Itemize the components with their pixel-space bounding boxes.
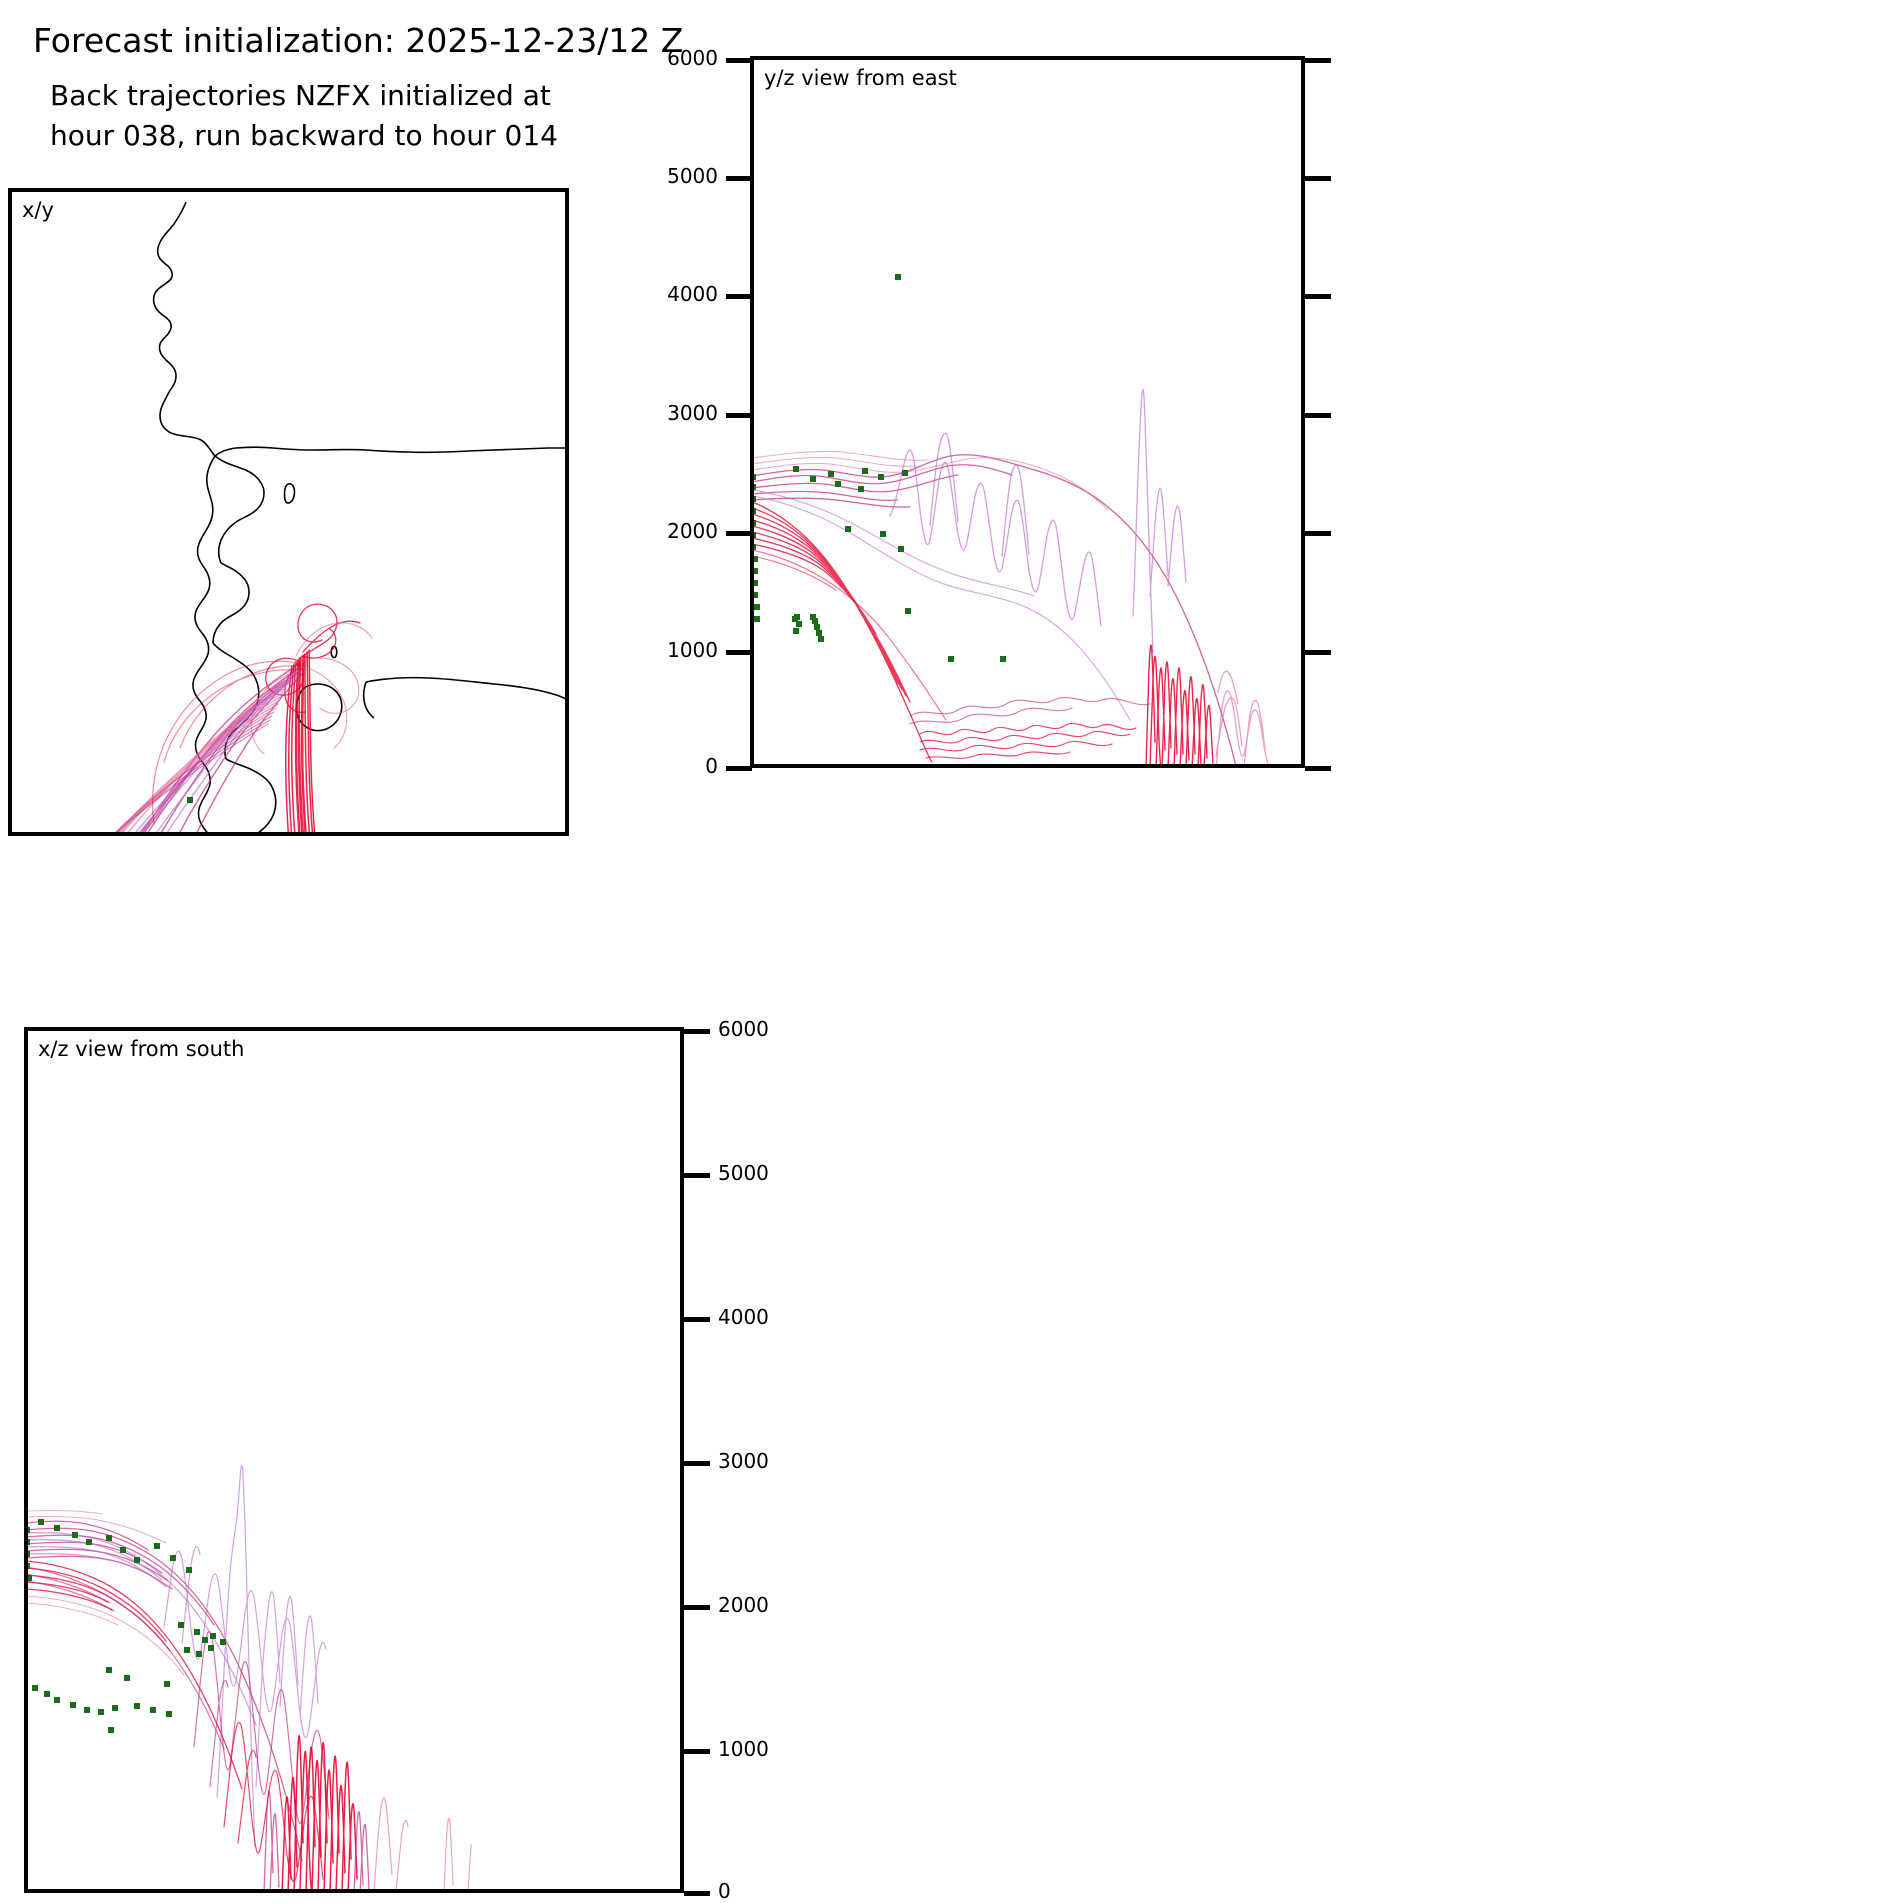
subtitle-line-2: hour 038, run backward to hour 014 bbox=[50, 116, 690, 156]
yz-right-tick-5000 bbox=[1305, 176, 1331, 181]
trajectory-paths-yz bbox=[752, 389, 1270, 768]
panel-xy-label: x/y bbox=[22, 198, 54, 222]
yz-right-tick-1000 bbox=[1305, 650, 1331, 655]
yz-tick-label-6000: 6000 bbox=[667, 46, 718, 70]
xz-tick-label-0: 0 bbox=[718, 1879, 731, 1903]
xz-tick-label-6000: 6000 bbox=[718, 1017, 769, 1041]
xz-tick-5000 bbox=[684, 1173, 710, 1178]
yz-axis-right bbox=[1305, 56, 1345, 768]
xz-tick-label-1000: 1000 bbox=[718, 1737, 769, 1761]
xz-tick-4000 bbox=[684, 1317, 710, 1322]
time-markers-yz bbox=[750, 274, 1006, 662]
xz-tick-label-5000: 5000 bbox=[718, 1161, 769, 1185]
subtitle: Back trajectories NZFX initialized at ho… bbox=[50, 76, 690, 156]
xz-tick-label-3000: 3000 bbox=[718, 1449, 769, 1473]
yz-tick-6000 bbox=[726, 58, 752, 63]
xy-plot-canvas bbox=[8, 188, 569, 836]
xz-tick-1000 bbox=[684, 1749, 710, 1754]
trajectory-paths-xz bbox=[26, 1465, 471, 1893]
xz-axis-right: 6000 5000 4000 3000 2000 1000 0 bbox=[684, 1027, 814, 1893]
page-title: Forecast initialization: 2025-12-23/12 Z bbox=[33, 22, 683, 60]
xz-tick-label-4000: 4000 bbox=[718, 1305, 769, 1329]
time-markers-xy bbox=[16, 797, 236, 836]
yz-tick-label-0: 0 bbox=[705, 754, 718, 778]
yz-tick-label-2000: 2000 bbox=[667, 519, 718, 543]
xz-tick-0 bbox=[684, 1891, 710, 1896]
yz-plot-canvas bbox=[750, 56, 1305, 768]
yz-right-tick-0 bbox=[1305, 766, 1331, 771]
xz-tick-3000 bbox=[684, 1461, 710, 1466]
panel-yz-label: y/z view from east bbox=[764, 66, 957, 90]
yz-tick-4000 bbox=[726, 294, 752, 299]
panel-xz[interactable]: x/z view from south bbox=[24, 1027, 684, 1893]
subtitle-line-1: Back trajectories NZFX initialized at bbox=[50, 76, 690, 116]
xz-tick-6000 bbox=[684, 1029, 710, 1034]
yz-axis-left: 6000 5000 4000 3000 2000 1000 0 bbox=[660, 56, 752, 768]
yz-tick-3000 bbox=[726, 413, 752, 418]
panel-yz[interactable]: y/z view from east bbox=[750, 56, 1305, 768]
yz-tick-2000 bbox=[726, 531, 752, 536]
yz-tick-label-4000: 4000 bbox=[667, 282, 718, 306]
yz-right-tick-2000 bbox=[1305, 531, 1331, 536]
panel-xy[interactable]: x/y bbox=[8, 188, 569, 836]
yz-right-tick-6000 bbox=[1305, 58, 1331, 63]
yz-tick-label-3000: 3000 bbox=[667, 401, 718, 425]
yz-right-tick-3000 bbox=[1305, 413, 1331, 418]
panel-xz-label: x/z view from south bbox=[38, 1037, 244, 1061]
xz-tick-2000 bbox=[684, 1605, 710, 1610]
yz-tick-label-5000: 5000 bbox=[667, 164, 718, 188]
yz-tick-5000 bbox=[726, 176, 752, 181]
yz-tick-label-1000: 1000 bbox=[667, 638, 718, 662]
time-markers-xz bbox=[24, 1519, 226, 1733]
xz-tick-label-2000: 2000 bbox=[718, 1593, 769, 1617]
yz-tick-1000 bbox=[726, 650, 752, 655]
yz-tick-0 bbox=[726, 766, 752, 771]
xz-plot-canvas bbox=[24, 1027, 684, 1893]
yz-right-tick-4000 bbox=[1305, 294, 1331, 299]
